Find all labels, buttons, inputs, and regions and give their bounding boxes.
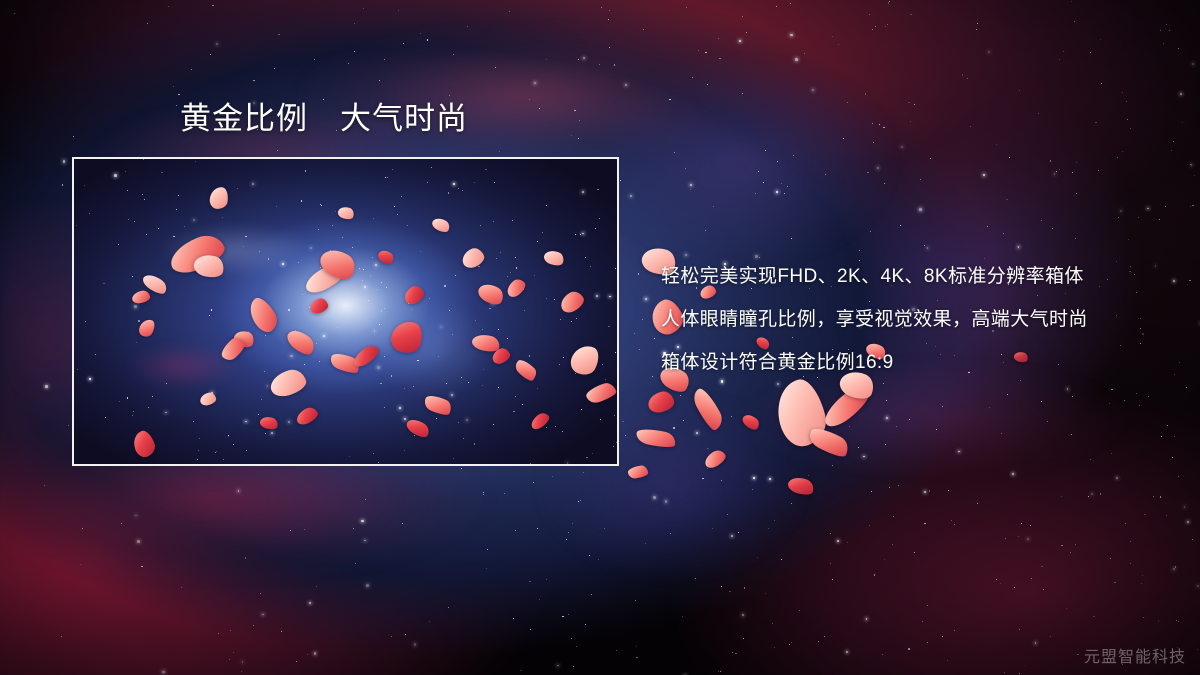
image-frame-panel [72, 157, 619, 466]
body-line-2: 人体眼睛瞳孔比例，享受视觉效果，高端大气时尚 [661, 298, 1161, 341]
watermark: 元盟智能科技 [1084, 643, 1186, 667]
page-title: 黄金比例 大气时尚 [180, 100, 468, 139]
body-line-3: 箱体设计符合黄金比例16:9 [661, 341, 1161, 384]
panel-content [74, 159, 617, 464]
body-line-1: 轻松完美实现FHD、2K、4K、8K标准分辨率箱体 [661, 255, 1161, 298]
body-text-block: 轻松完美实现FHD、2K、4K、8K标准分辨率箱体 人体眼睛瞳孔比例，享受视觉效… [661, 255, 1161, 384]
presentation-slide: 黄金比例 大气时尚 轻松完美实现FHD、2K、4K、8K标准分辨率箱体 人体眼睛… [0, 0, 1200, 675]
